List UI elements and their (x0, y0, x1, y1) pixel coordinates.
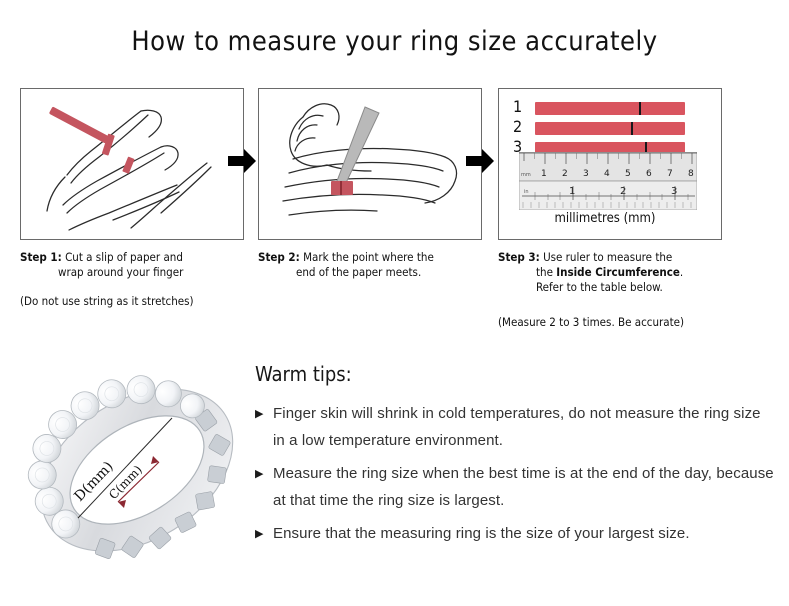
svg-text:5: 5 (625, 169, 631, 179)
bullet-triangle-icon: ▶ (255, 460, 273, 487)
svg-text:1: 1 (541, 169, 547, 179)
arrow-step2-to-step3 (466, 146, 494, 176)
svg-text:8: 8 (688, 169, 694, 179)
svg-text:2: 2 (620, 186, 626, 197)
ruler-icon: 1 2 3 4 5 6 7 8 mm 1 2 3 (519, 152, 697, 210)
bullet-triangle-icon: ▶ (255, 520, 273, 547)
strip-2-number: 2 (513, 118, 522, 136)
arrow-step1-to-step2 (228, 146, 256, 176)
ruler-unit-label: millimetres (mm) (499, 211, 711, 226)
strip-1-number: 1 (513, 98, 522, 116)
step-3-label: Step 3: (498, 250, 540, 264)
svg-text:1: 1 (569, 186, 575, 197)
hand-with-paper-slip-icon (21, 89, 243, 239)
step-2-line1: Mark the point where the (303, 250, 434, 264)
step-1-caption: Step 1: Cut a slip of paper and wrap aro… (20, 250, 252, 280)
step-3-line2-suffix: . (680, 265, 683, 279)
step-3-illustration-panel: 1 2 3 (498, 88, 722, 240)
tip-text: Measure the ring size when the best time… (273, 460, 775, 514)
step-2-line2: end of the paper meets. (258, 265, 490, 280)
bullet-triangle-icon: ▶ (255, 400, 273, 427)
svg-text:in: in (524, 189, 529, 195)
warm-tips-heading: Warm tips: (255, 362, 775, 386)
step-3-caption: Step 3: Use ruler to measure the the Ins… (498, 250, 730, 295)
hand-with-pen-marking-icon (259, 89, 481, 239)
svg-text:3: 3 (583, 169, 589, 179)
step-1-label: Step 1: (20, 250, 62, 264)
tip-item: ▶ Finger skin will shrink in cold temper… (255, 400, 775, 454)
strip-2-mark (631, 122, 633, 135)
svg-text:2: 2 (562, 169, 568, 179)
ring-diagram: D(mm) C(mm) (22, 352, 252, 587)
svg-text:mm: mm (521, 172, 531, 178)
svg-text:3: 3 (671, 186, 677, 197)
step-2-illustration-panel (258, 88, 482, 240)
step-3-emphasis: Inside Circumference (556, 265, 680, 279)
tip-text: Finger skin will shrink in cold temperat… (273, 400, 775, 454)
tip-item: ▶ Measure the ring size when the best ti… (255, 460, 775, 514)
strip-1-bar (535, 102, 685, 115)
tip-text: Ensure that the measuring ring is the si… (273, 520, 775, 547)
paper-slip-loose (49, 106, 109, 143)
steps-row: Step 1: Cut a slip of paper and wrap aro… (0, 88, 789, 338)
svg-text:4: 4 (604, 169, 610, 179)
page-title: How to measure your ring size accurately (0, 26, 789, 57)
paper-slip-wrapped (102, 134, 135, 174)
eternity-ring-icon: D(mm) C(mm) (22, 352, 252, 587)
step-1-line1: Cut a slip of paper and (65, 250, 183, 264)
step-1-note: (Do not use string as it stretches) (20, 294, 265, 309)
step-3-line1: Use ruler to measure the (543, 250, 672, 264)
warm-tips-section: Warm tips: ▶ Finger skin will shrink in … (255, 362, 775, 553)
step-2-caption: Step 2: Mark the point where the end of … (258, 250, 490, 280)
step-3-line2: the Inside Circumference. (498, 265, 730, 280)
tip-item: ▶ Ensure that the measuring ring is the … (255, 520, 775, 547)
strip-2-bar (535, 122, 685, 135)
svg-text:6: 6 (646, 169, 652, 179)
step-2-label: Step 2: (258, 250, 300, 264)
step-1-illustration-panel (20, 88, 244, 240)
step-column-2: Step 2: Mark the point where the end of … (258, 88, 482, 280)
step-3-line2-prefix: the (536, 265, 556, 279)
strip-1-mark (639, 102, 641, 115)
step-column-1: Step 1: Cut a slip of paper and wrap aro… (20, 88, 244, 309)
paper-slip-marked (331, 181, 353, 195)
svg-text:7: 7 (667, 169, 673, 179)
step-1-line2: wrap around your finger (20, 265, 252, 280)
step-3-note: (Measure 2 to 3 times. Be accurate) (498, 315, 743, 330)
step-3-line3: Refer to the table below. (498, 280, 730, 295)
step-column-3: 1 2 3 (498, 88, 722, 330)
